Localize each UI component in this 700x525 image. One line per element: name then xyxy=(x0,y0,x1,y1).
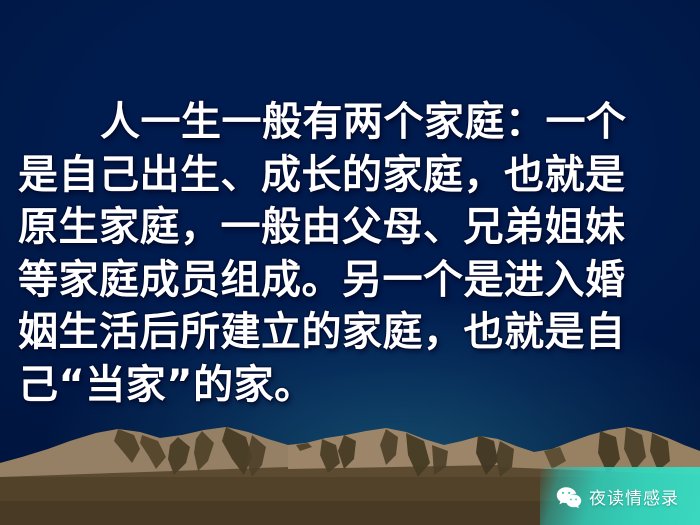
image-canvas: 人一生一般有两个家庭：一个 是自己出生、成长的家庭，也就是 原生家庭，一般由父母… xyxy=(0,0,700,525)
quote-text-block: 人一生一般有两个家庭：一个 是自己出生、成长的家庭，也就是 原生家庭，一般由父母… xyxy=(0,96,700,411)
wechat-icon-small-bubble xyxy=(566,495,581,508)
wechat-account-name: 夜读情感录 xyxy=(589,484,679,509)
wechat-icon-eye-left xyxy=(562,492,564,494)
quote-line-6: 己“当家”的家。 xyxy=(18,359,682,412)
wechat-icon-eye-right xyxy=(568,492,570,494)
quote-line-1: 人一生一般有两个家庭：一个 xyxy=(18,96,682,149)
wechat-icon-small-eye-right xyxy=(575,499,577,501)
quote-line-4: 等家庭成员组成。另一个是进入婚 xyxy=(18,254,682,307)
quote-line-3: 原生家庭，一般由父母、兄弟姐妹 xyxy=(18,201,682,254)
wechat-account-watermark: 夜读情感录 xyxy=(540,467,700,525)
wechat-icon-small-eye-left xyxy=(570,499,572,501)
quote-line-2: 是自己出生、成长的家庭，也就是 xyxy=(18,149,682,202)
wechat-icon xyxy=(556,486,582,508)
quote-line-5: 姻生活后所建立的家庭，也就是自 xyxy=(18,306,682,359)
